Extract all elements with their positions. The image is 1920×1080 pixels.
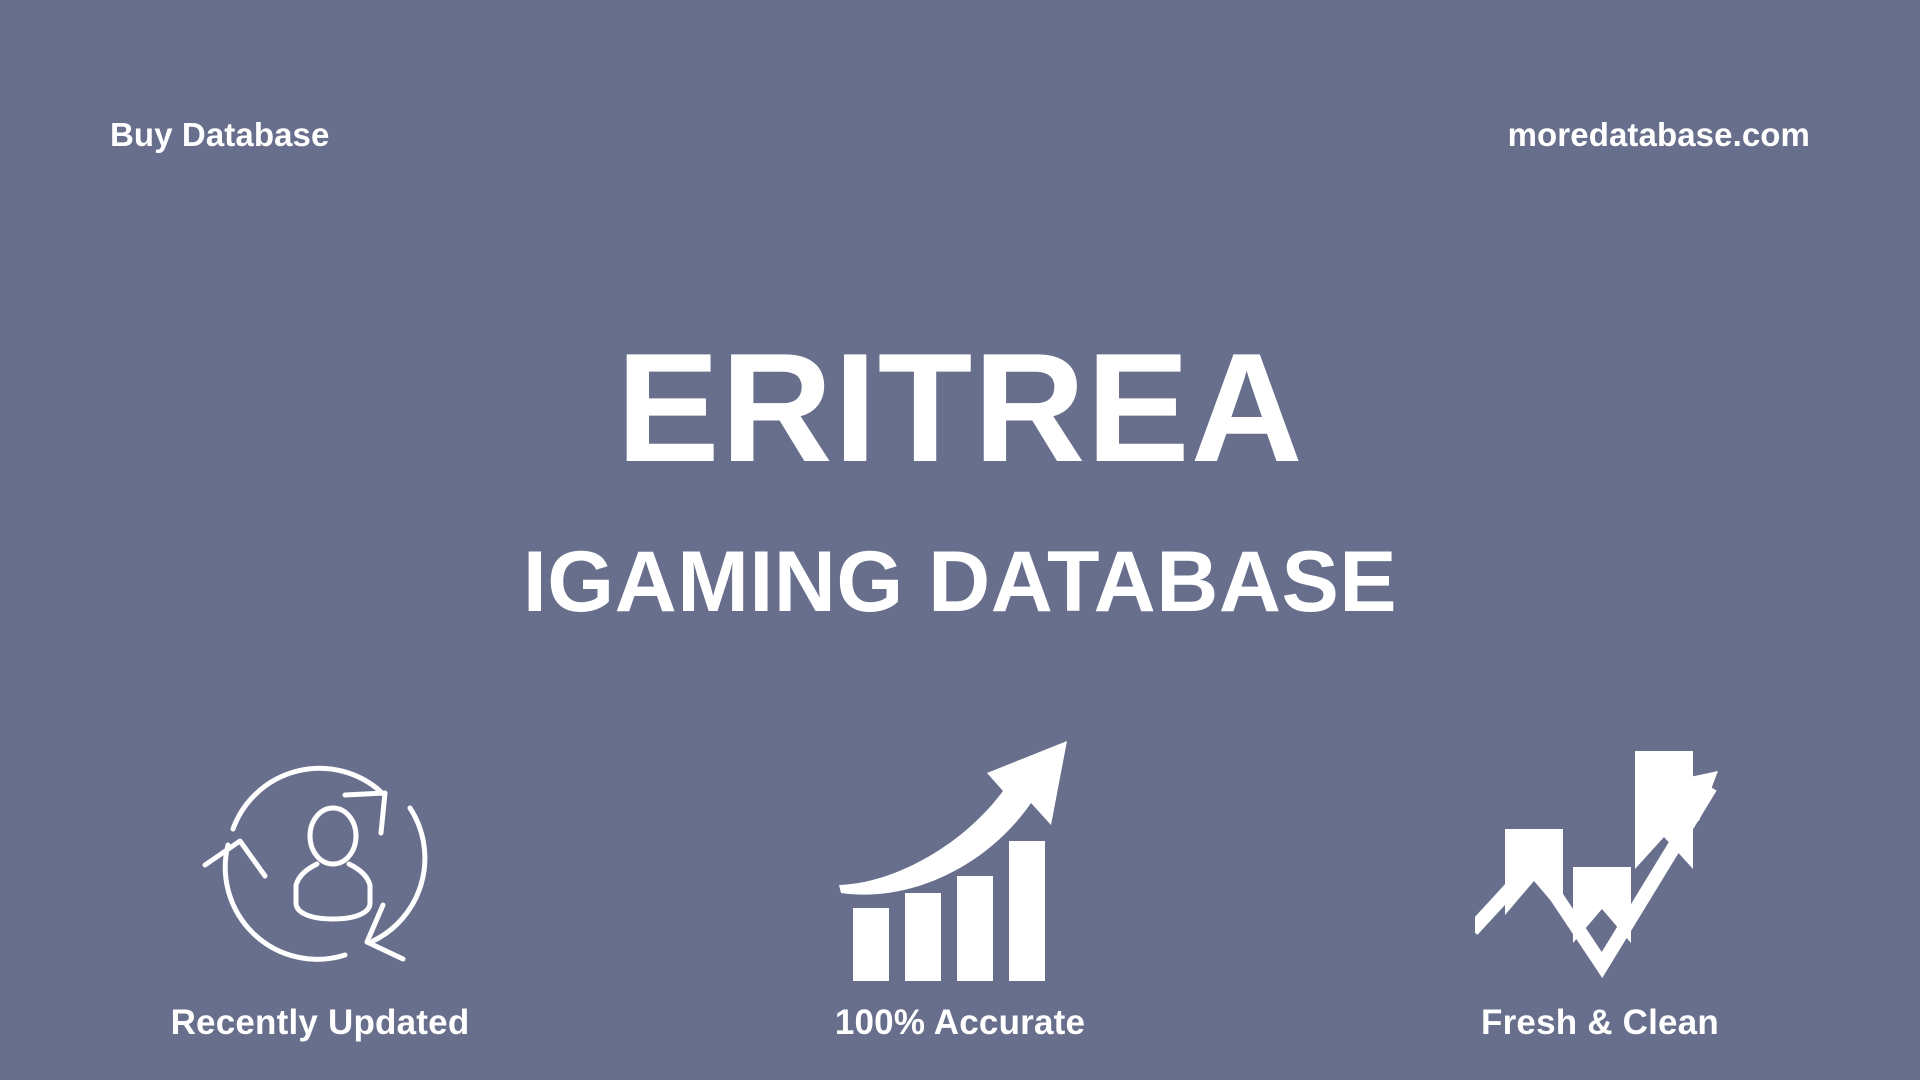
recycle-user-icon bbox=[195, 733, 445, 983]
feature-label: 100% Accurate bbox=[835, 1005, 1085, 1040]
banner-header: Buy Database moredatabase.com bbox=[110, 104, 1810, 164]
feature-item-recently-updated: Recently Updated bbox=[100, 733, 540, 1040]
feature-row: Recently Updated 100% Accurate bbox=[0, 680, 1920, 1040]
page-subtitle: IGAMING DATABASE bbox=[0, 485, 1920, 625]
feature-item-100-accurate: 100% Accurate bbox=[740, 733, 1180, 1040]
feature-icon-wrap bbox=[835, 733, 1085, 983]
bar-chart-zigzag-arrow-icon bbox=[1475, 733, 1725, 983]
website-label: moredatabase.com bbox=[1508, 118, 1810, 151]
page-title: ERITREA bbox=[0, 330, 1920, 485]
feature-label: Recently Updated bbox=[171, 1005, 470, 1040]
feature-icon-wrap bbox=[1475, 733, 1725, 983]
feature-icon-wrap bbox=[195, 733, 445, 983]
brand-label: Buy Database bbox=[110, 118, 329, 151]
title-block: ERITREA IGAMING DATABASE bbox=[0, 330, 1920, 625]
feature-label: Fresh & Clean bbox=[1481, 1005, 1719, 1040]
promo-banner: Buy Database moredatabase.com ERITREA IG… bbox=[0, 0, 1920, 1080]
feature-item-fresh-clean: Fresh & Clean bbox=[1380, 733, 1820, 1040]
growth-bar-chart-arrow-icon bbox=[835, 733, 1085, 983]
